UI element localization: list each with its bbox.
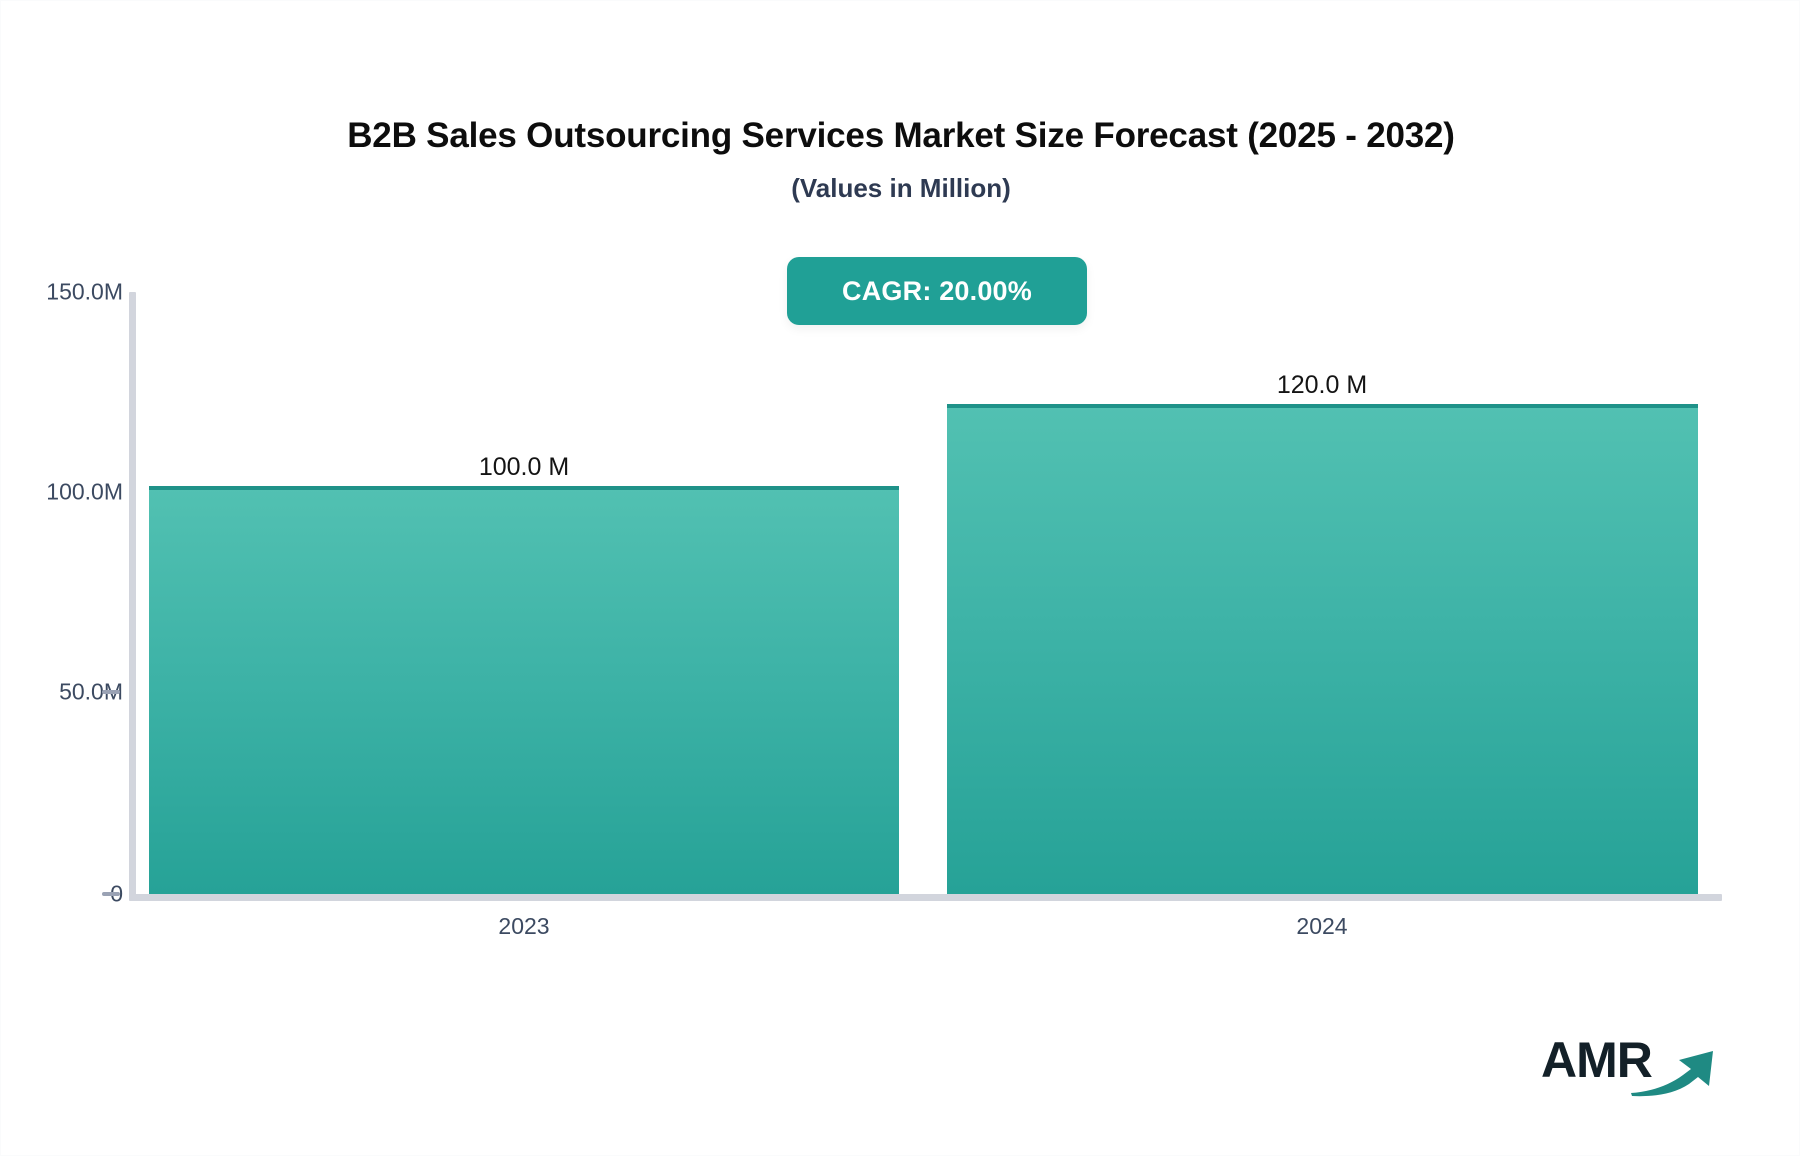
chart-canvas: B2B Sales Outsourcing Services Market Si… xyxy=(0,0,1800,1156)
bar-2024[interactable] xyxy=(947,404,1698,894)
x-axis-line xyxy=(129,894,1722,901)
bar-top-edge xyxy=(947,404,1698,408)
amr-logo: AMR xyxy=(1541,1031,1721,1103)
bar-value-label: 100.0 M xyxy=(479,453,569,482)
plot-area: 150.0M100.0M50.0M0 100.0 M120.0 M 202320… xyxy=(1,1,1800,1157)
bar-value-label: 120.0 M xyxy=(1277,371,1367,400)
x-axis-tick-label: 2024 xyxy=(1296,913,1347,940)
bar-2023[interactable] xyxy=(149,486,899,894)
y-axis-tick-mark xyxy=(102,690,120,694)
bar-top-edge xyxy=(149,486,899,490)
y-axis-tick-label: 100.0M xyxy=(46,479,123,506)
y-axis-tick-mark xyxy=(102,892,120,896)
y-axis-line xyxy=(129,292,136,899)
growth-arrow-icon xyxy=(1629,1045,1721,1097)
x-axis-tick-label: 2023 xyxy=(498,913,549,940)
y-axis-tick-label: 150.0M xyxy=(46,279,123,306)
